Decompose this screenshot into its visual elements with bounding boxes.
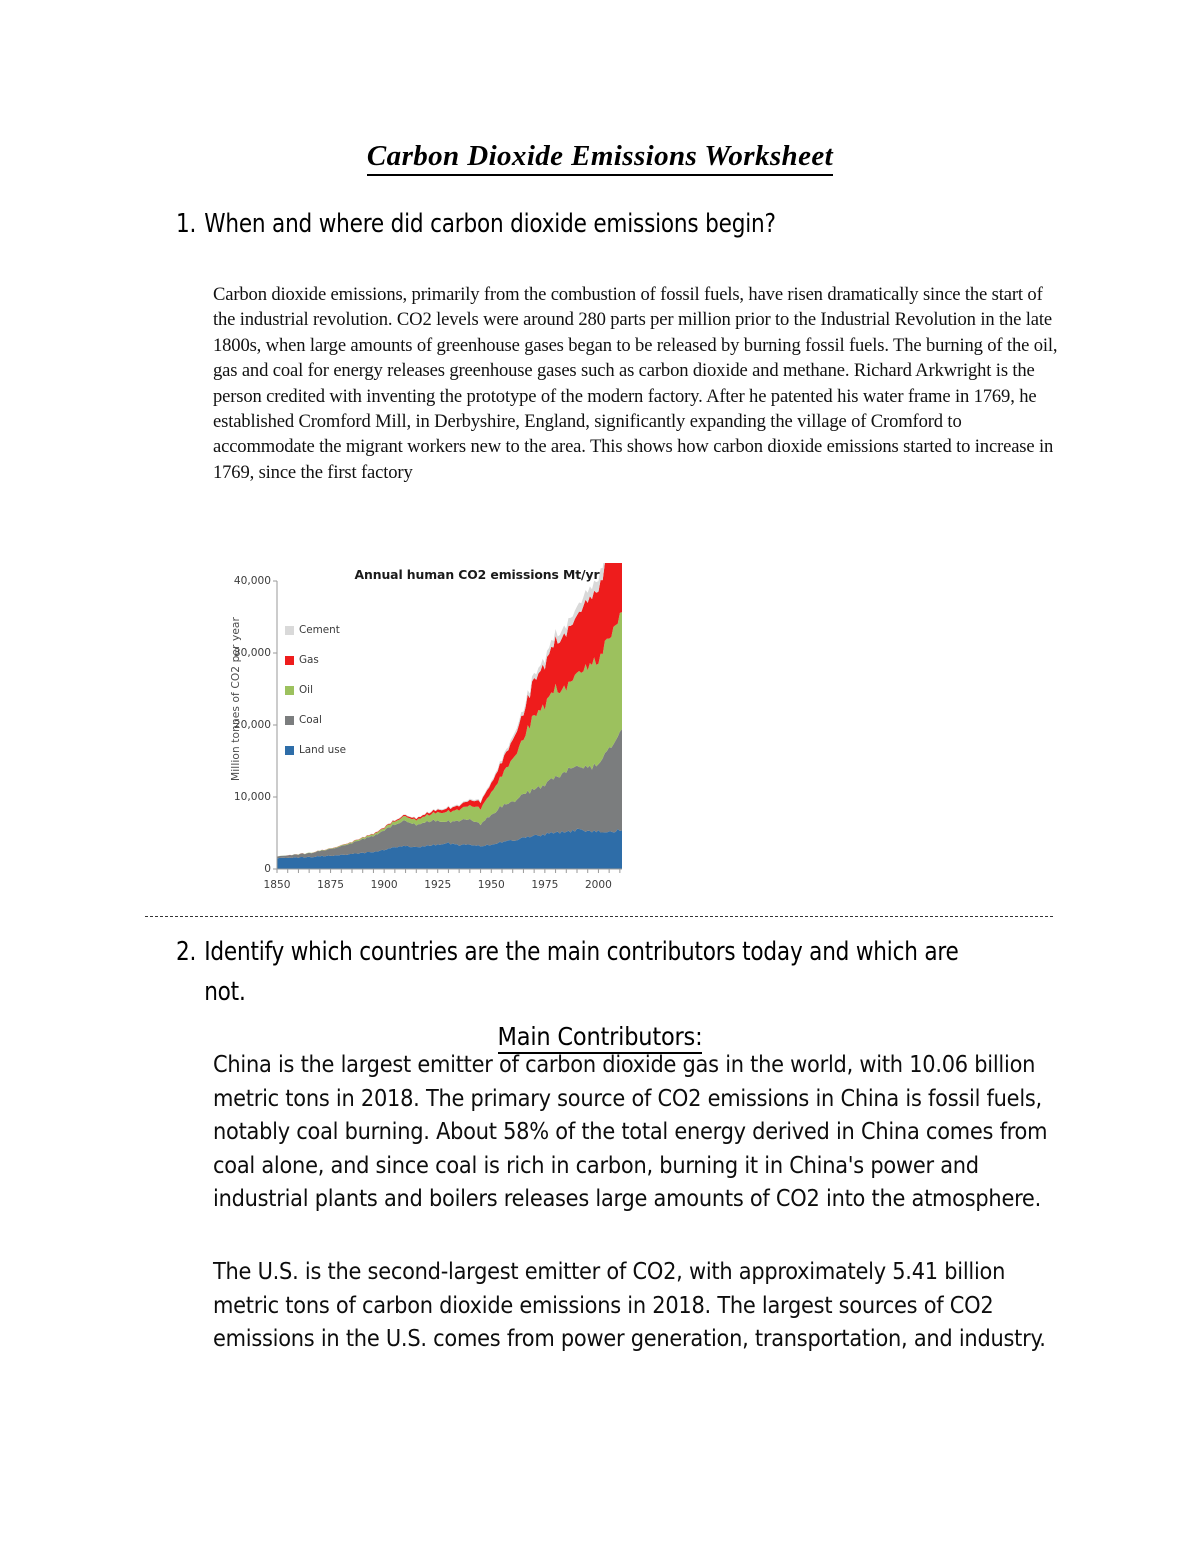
page-title: Carbon Dioxide Emissions Worksheet bbox=[0, 140, 1200, 173]
legend-swatch-icon bbox=[285, 716, 294, 725]
us-paragraph: The U.S. is the second-largest emitter o… bbox=[213, 1255, 1060, 1356]
chart-x-axis-ticks: 1850187519001925195019752000 bbox=[207, 875, 647, 895]
chart-x-tick: 1975 bbox=[515, 879, 575, 891]
question-1-text: When and where did carbon dioxide emissi… bbox=[204, 209, 776, 239]
page-title-text: Carbon Dioxide Emissions Worksheet bbox=[367, 140, 833, 176]
question-2-heading: 2.Identify which countries are the main … bbox=[176, 933, 1003, 1012]
chart-svg bbox=[207, 563, 647, 901]
chart-legend-item: Gas bbox=[285, 645, 346, 675]
chart-legend-item: Land use bbox=[285, 735, 346, 765]
chart-x-tick: 1900 bbox=[354, 879, 414, 891]
chart-legend-item: Coal bbox=[285, 705, 346, 735]
chart-legend-label: Cement bbox=[299, 624, 340, 636]
chart-legend-item: Cement bbox=[285, 615, 346, 645]
chart-legend: CementGasOilCoalLand use bbox=[285, 615, 346, 765]
chart-legend-label: Oil bbox=[299, 684, 313, 696]
chart-x-tick: 2000 bbox=[568, 879, 628, 891]
question-1-number: 1. bbox=[176, 205, 204, 245]
chart-x-tick: 1850 bbox=[247, 879, 307, 891]
china-paragraph: China is the largest emitter of carbon d… bbox=[213, 1048, 1060, 1216]
question-1-answer-paragraph: Carbon dioxide emissions, primarily from… bbox=[213, 282, 1059, 485]
chart-x-tick: 1925 bbox=[408, 879, 468, 891]
legend-swatch-icon bbox=[285, 746, 294, 755]
chart-x-tick: 1950 bbox=[461, 879, 521, 891]
question-2-number: 2. bbox=[176, 933, 204, 973]
chart-legend-label: Coal bbox=[299, 714, 322, 726]
question-1-heading: 1.When and where did carbon dioxide emis… bbox=[176, 205, 1003, 245]
legend-swatch-icon bbox=[285, 656, 294, 665]
chart-legend-item: Oil bbox=[285, 675, 346, 705]
worksheet-page: Carbon Dioxide Emissions Worksheet 1.Whe… bbox=[0, 0, 1200, 1553]
question-2-text: Identify which countries are the main co… bbox=[204, 933, 984, 1012]
chart-x-tick: 1875 bbox=[301, 879, 361, 891]
co2-emissions-chart: Annual human CO2 emissions Mt/yr Million… bbox=[207, 563, 647, 901]
chart-legend-label: Gas bbox=[299, 654, 319, 666]
section-divider bbox=[145, 916, 1053, 918]
legend-swatch-icon bbox=[285, 626, 294, 635]
main-contributors-heading: Main Contributors: bbox=[0, 1022, 1200, 1051]
legend-swatch-icon bbox=[285, 686, 294, 695]
chart-legend-label: Land use bbox=[299, 744, 346, 756]
